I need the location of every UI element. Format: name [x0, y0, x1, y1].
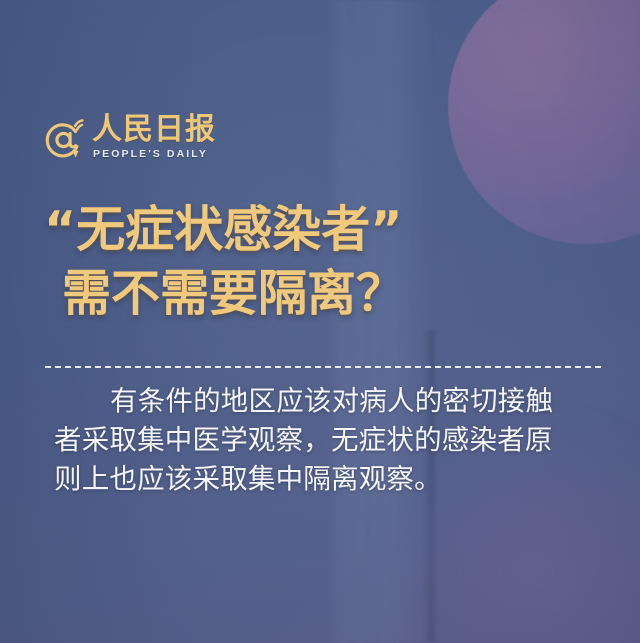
- masthead-logo: 人民日报 PEOPLE'S DAILY: [42, 113, 216, 163]
- masthead-brand-en: PEOPLE'S DAILY: [93, 148, 208, 161]
- section-divider: [45, 366, 601, 368]
- body-copy: 有条件的地区应该对病人的密切接触 者采取集中医学观察，无症状的感染者原 则上也应…: [54, 382, 599, 499]
- masthead-wordmark: 人民日报 PEOPLE'S DAILY: [92, 113, 216, 161]
- headline: “无症状感染者” 需不需要隔离？: [44, 198, 604, 326]
- poster-content: 人民日报 PEOPLE'S DAILY “无症状感染者” 需不需要隔离？ 有条件…: [0, 0, 640, 643]
- body-line-3: 则上也应该采取集中隔离观察。: [54, 460, 599, 499]
- masthead-brand-cn: 人民日报: [92, 113, 216, 147]
- at-sign-wifi-icon: [42, 117, 88, 163]
- headline-line-2: 需不需要隔离？: [62, 262, 604, 326]
- body-line-2: 者采取集中医学观察，无症状的感染者原: [54, 421, 599, 460]
- body-line-1: 有条件的地区应该对病人的密切接触: [54, 382, 599, 421]
- news-poster-card: 人民日报 PEOPLE'S DAILY “无症状感染者” 需不需要隔离？ 有条件…: [0, 0, 640, 643]
- headline-line-1: “无症状感染者”: [44, 198, 604, 262]
